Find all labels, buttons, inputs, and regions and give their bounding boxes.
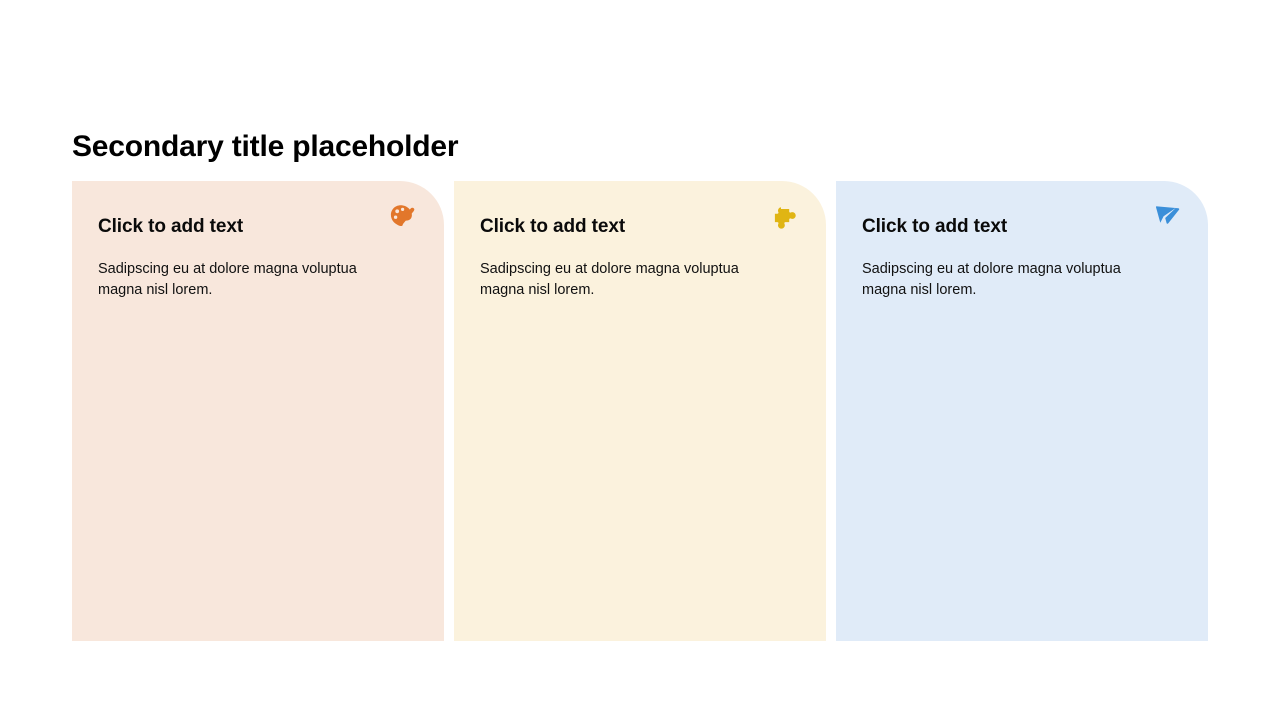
card-heading: Click to add text (480, 215, 798, 239)
card-heading: Click to add text (862, 215, 1180, 239)
card-body-text: Sadipscing eu at dolore magna voluptua m… (480, 259, 765, 301)
cards-row: Click to add text Sadipscing eu at dolor… (72, 181, 1208, 641)
card-heading: Click to add text (98, 215, 416, 239)
card-body-text: Sadipscing eu at dolore magna voluptua m… (98, 259, 383, 301)
content-card-1[interactable]: Click to add text Sadipscing eu at dolor… (72, 181, 444, 641)
page-title: Secondary title placeholder (72, 127, 458, 167)
slide-canvas: Secondary title placeholder Click to add… (0, 0, 1280, 720)
content-card-2[interactable]: Click to add text Sadipscing eu at dolor… (454, 181, 826, 641)
card-body-text: Sadipscing eu at dolore magna voluptua m… (862, 259, 1147, 301)
content-card-3[interactable]: Click to add text Sadipscing eu at dolor… (836, 181, 1208, 641)
